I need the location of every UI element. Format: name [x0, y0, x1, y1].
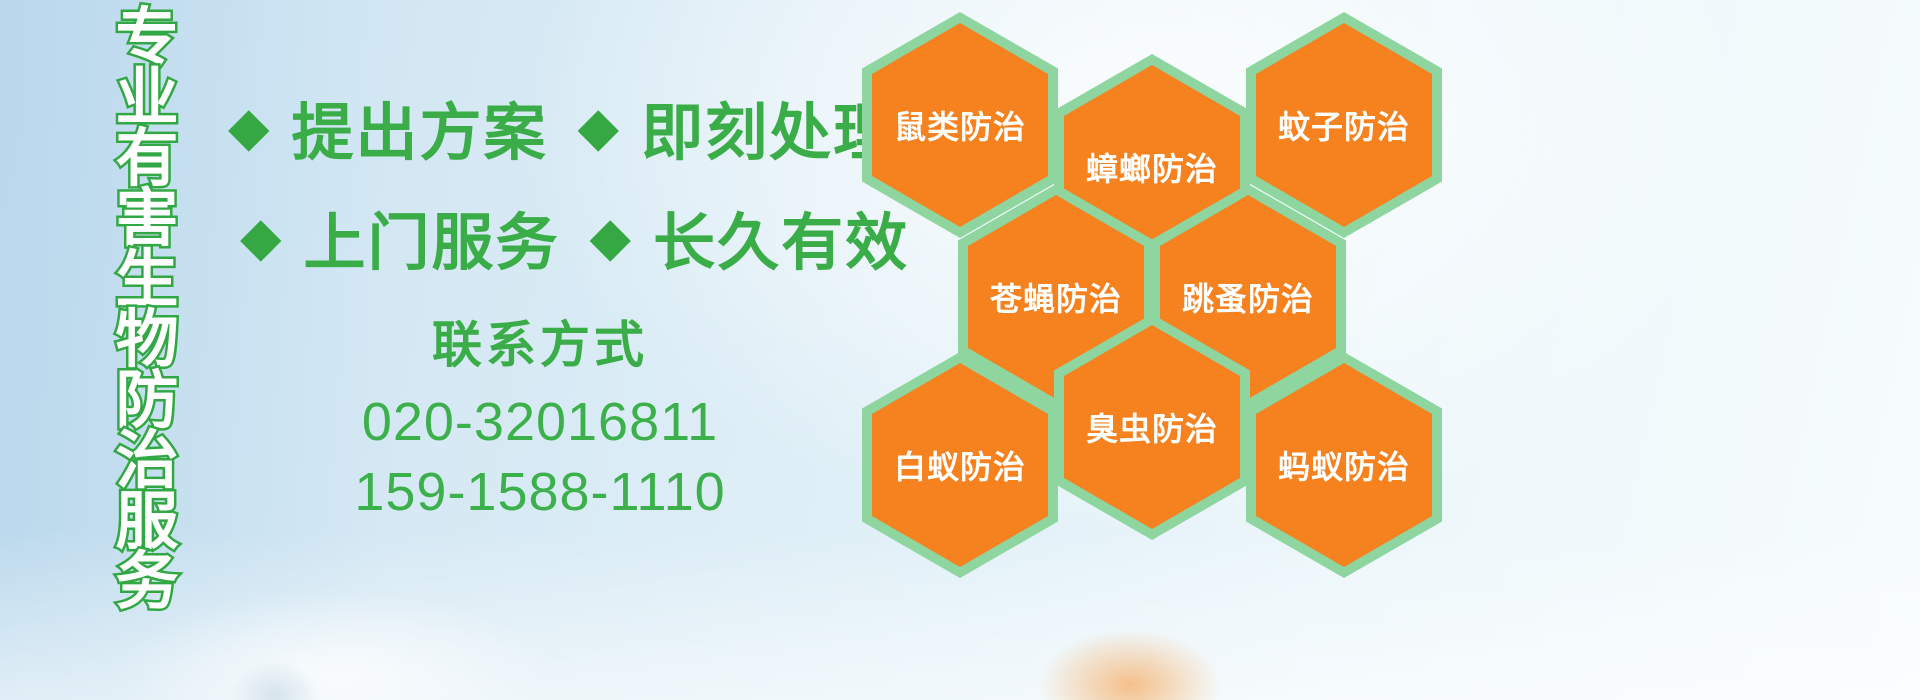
vertical-headline-char: 业	[116, 68, 179, 128]
service-hex-inner: 鼠类防治	[872, 23, 1048, 227]
feature-label-onsite-service: 上门服务	[304, 192, 560, 282]
contact-block: 联系方式 020-32016811 159-1588-1110	[260, 318, 820, 527]
vertical-headline-char: 物	[116, 310, 179, 370]
diamond-bullet-icon: ◆	[240, 210, 282, 264]
vertical-headline-char: 服	[116, 492, 179, 552]
diamond-bullet-icon: ◆	[578, 100, 620, 154]
service-hex-inner: 白蚁防治	[872, 363, 1048, 567]
service-hex-label: 跳蚤防治	[1182, 274, 1314, 320]
feature-label-immediate-handling: 即刻处理	[641, 82, 897, 172]
vertical-headline-char: 防	[116, 371, 179, 431]
diamond-bullet-icon: ◆	[228, 100, 270, 154]
service-hex-inner: 臭虫防治	[1064, 325, 1240, 529]
feature-row-2: ◆ 上门服务 ◆ 长久有效	[240, 192, 909, 282]
service-hex-label: 蟑螂防治	[1086, 144, 1218, 190]
vertical-headline-char: 有	[116, 129, 179, 189]
service-hex-label: 蚂蚁防治	[1278, 442, 1410, 488]
service-hex-label: 白蚁防治	[894, 442, 1026, 488]
vertical-headline-char: 务	[116, 552, 179, 612]
diamond-bullet-icon: ◆	[590, 210, 632, 264]
service-hex-inner: 蚊子防治	[1256, 23, 1432, 227]
vertical-headline: 专 业 有 害 生 物 防 治 服 务	[104, 8, 190, 613]
service-hex-inner: 蚂蚁防治	[1256, 363, 1432, 567]
contact-phone-mobile[interactable]: 159-1588-1110	[260, 457, 820, 527]
banner-canvas: 专 业 有 害 生 物 防 治 服 务 ◆ 提出方案 ◆ 即刻处理 ◆ 上门服务…	[0, 0, 1920, 700]
service-hex-label: 臭虫防治	[1086, 404, 1218, 450]
background-blur-blob	[230, 660, 320, 700]
vertical-headline-char: 害	[116, 189, 179, 249]
contact-phone-landline[interactable]: 020-32016811	[260, 387, 820, 457]
feature-row-1: ◆ 提出方案 ◆ 即刻处理	[228, 82, 897, 172]
service-hex-label: 鼠类防治	[894, 102, 1026, 148]
service-hex-label: 蚊子防治	[1278, 102, 1410, 148]
service-honeycomb-grid: 鼠类防治 蟑螂防治 蚊子防治 苍蝇防治 跳蚤防治 白蚁防治	[862, 4, 1462, 572]
vertical-headline-char: 生	[116, 250, 179, 310]
vertical-headline-char: 治	[116, 431, 179, 491]
feature-label-propose-plan: 提出方案	[292, 82, 548, 172]
vertical-headline-char: 专	[116, 8, 179, 68]
contact-label: 联系方式	[260, 318, 820, 373]
service-hex-label: 苍蝇防治	[990, 274, 1122, 320]
background-blur-blob	[1040, 630, 1220, 700]
